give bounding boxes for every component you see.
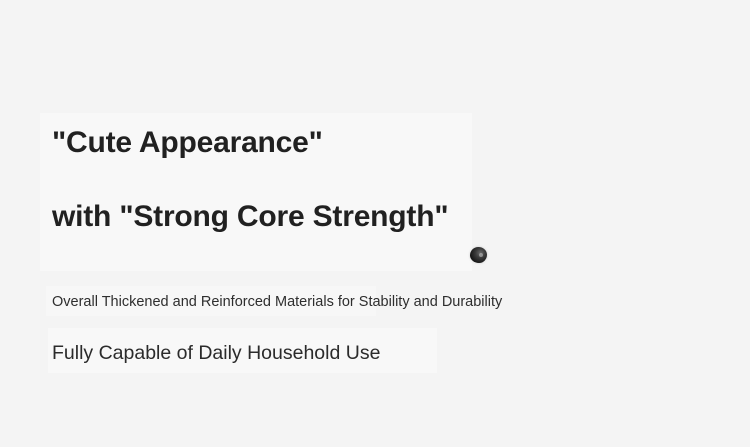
product-fragment-icon [470,247,487,263]
headline-line-2: with "Strong Core Strength" [52,202,672,232]
product-fragment-highlight [479,253,483,257]
subline-block: Overall Thickened and Reinforced Materia… [52,295,692,363]
headline-line-1: "Cute Appearance" [52,128,672,158]
subline-1: Overall Thickened and Reinforced Materia… [52,295,692,310]
headline-block: "Cute Appearance" with "Strong Core Stre… [52,128,672,232]
promo-slide: "Cute Appearance" with "Strong Core Stre… [0,0,750,447]
subline-2: Fully Capable of Daily Household Use [52,344,692,364]
